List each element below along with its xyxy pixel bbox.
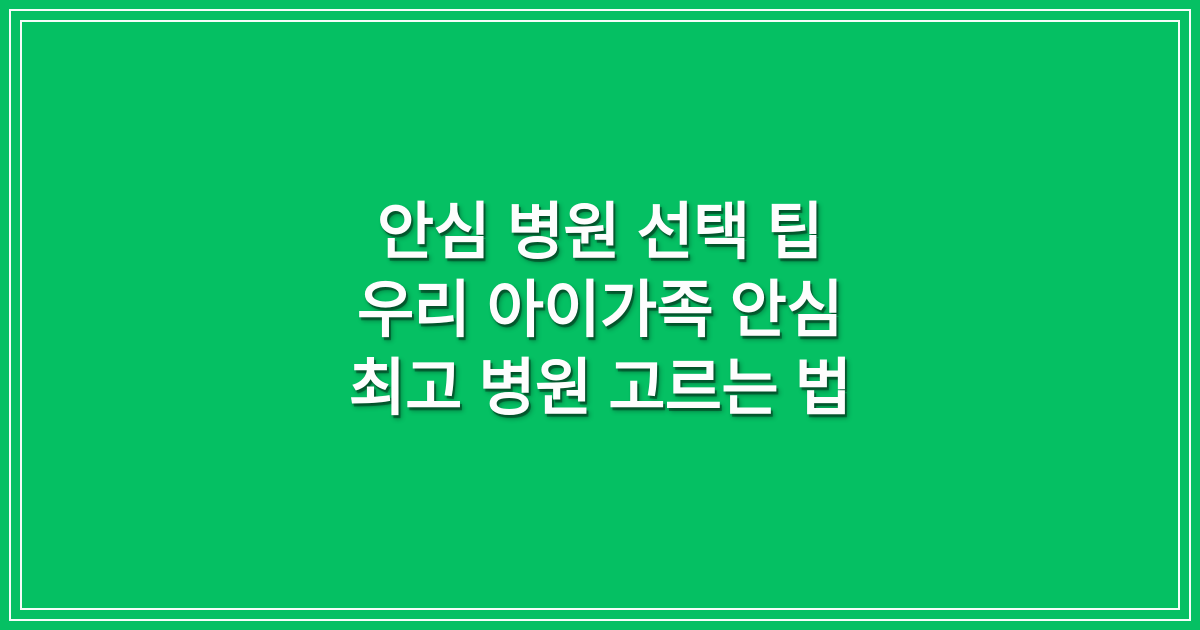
- title-line-2: 우리 아이가족 안심: [70, 272, 1130, 350]
- title-line-1: 안심 병원 선택 팁: [70, 194, 1130, 272]
- page-title: 안심 병원 선택 팁 우리 아이가족 안심 최고 병원 고르는 법: [0, 0, 1200, 626]
- thumbnail-card: 안심 병원 선택 팁 우리 아이가족 안심 최고 병원 고르는 법: [0, 0, 1200, 630]
- title-line-3: 최고 병원 고르는 법: [70, 350, 1130, 428]
